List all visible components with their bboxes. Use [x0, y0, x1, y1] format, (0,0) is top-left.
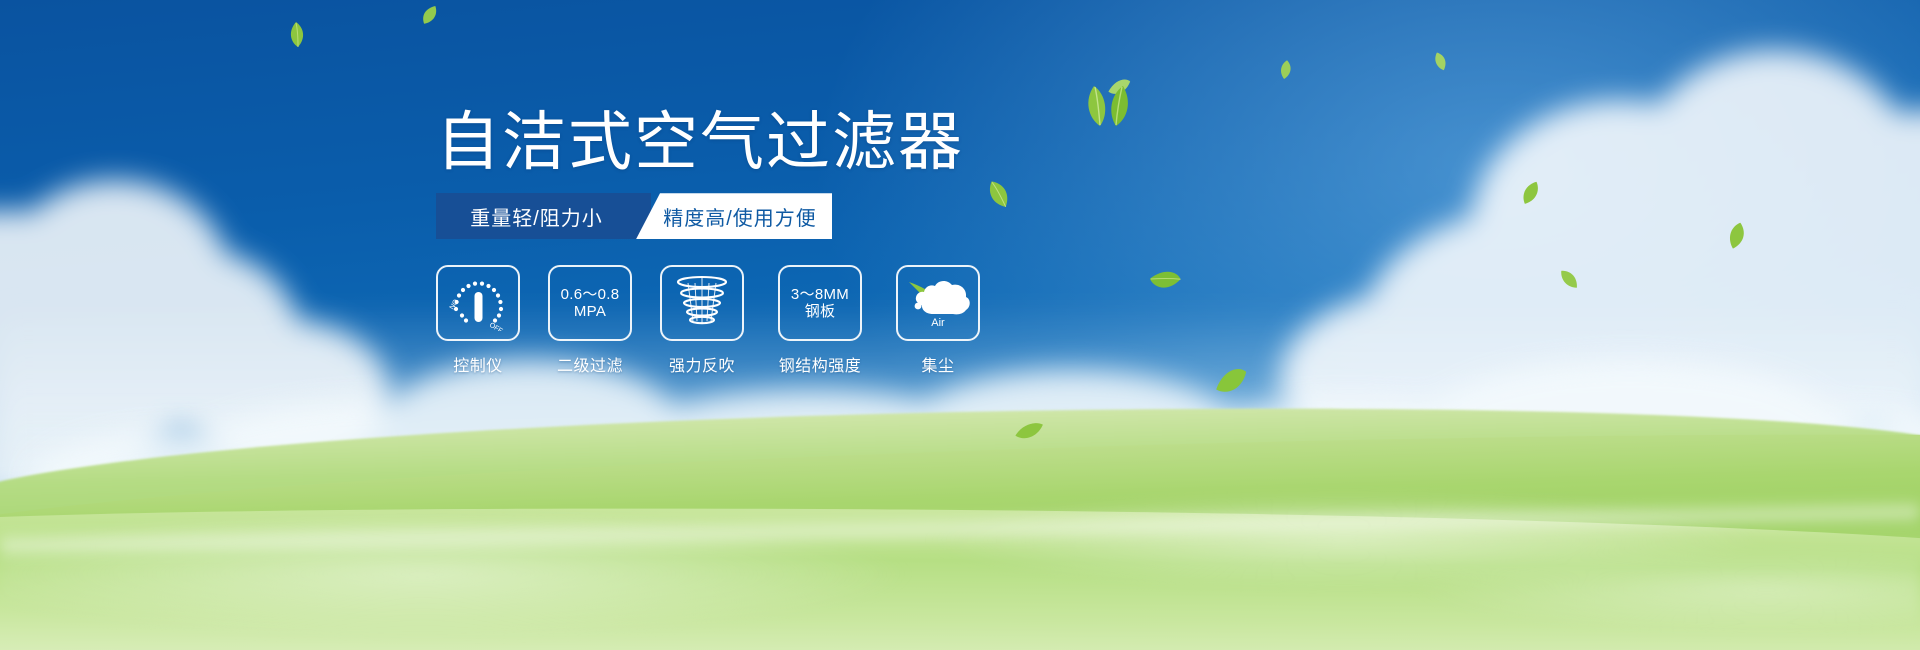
pressure-text-icon: 0.6〜0.8 MPA — [561, 286, 620, 321]
feature-item[interactable]: Air 集尘 — [896, 265, 980, 376]
svg-text:OFF: OFF — [488, 322, 504, 331]
title-row: 自洁式空气过滤器 — [436, 110, 1156, 175]
feature-label: 控制仪 — [453, 352, 503, 376]
air-label: Air — [931, 317, 945, 329]
tagline-pill-primary[interactable]: 重量轻/阻力小 — [436, 193, 651, 239]
feature-icon-box: 0.6〜0.8 MPA — [548, 265, 632, 341]
svg-text:NO: NO — [449, 298, 461, 311]
feature-icon-row: NO OFF 控制仪 0.6〜0.8 MPA 二级过滤 — [436, 265, 1156, 376]
feature-label: 钢结构强度 — [779, 352, 862, 376]
filter-cartridge-icon — [674, 274, 730, 332]
floating-leaf-icon — [285, 22, 307, 48]
feature-icon-box: Air — [896, 265, 980, 341]
grass-sunlight-sheen — [0, 450, 1920, 650]
page-title: 自洁式空气过滤器 — [436, 110, 1156, 175]
feature-item[interactable]: 强力反吹 — [660, 265, 744, 376]
feature-label: 集尘 — [921, 352, 954, 376]
feature-icon-box: NO OFF — [436, 265, 520, 341]
banner-content: 自洁式空气过滤器 重量轻/阻力小 精度高/使用方便 — [436, 110, 1156, 376]
tagline-pill-group: 重量轻/阻力小 精度高/使用方便 — [436, 193, 832, 239]
feature-item[interactable]: 3〜8MM 钢板 钢结构强度 — [772, 265, 868, 376]
feature-item[interactable]: NO OFF 控制仪 — [436, 265, 520, 376]
feature-item[interactable]: 0.6〜0.8 MPA 二级过滤 — [548, 265, 632, 376]
feature-icon-box: 3〜8MM 钢板 — [778, 265, 862, 341]
tagline-pill-secondary[interactable]: 精度高/使用方便 — [636, 193, 832, 239]
promo-banner: 自洁式空气过滤器 重量轻/阻力小 精度高/使用方便 — [0, 0, 1920, 650]
feature-label: 强力反吹 — [669, 352, 735, 376]
feature-label: 二级过滤 — [557, 352, 623, 376]
feature-icon-box — [660, 265, 744, 341]
title-leaf-pair-icon — [1078, 84, 1134, 133]
steel-plate-text-icon: 3〜8MM 钢板 — [791, 286, 849, 321]
air-cloud-icon: Air — [903, 274, 973, 332]
gauge-dial-icon: NO OFF — [447, 275, 509, 331]
